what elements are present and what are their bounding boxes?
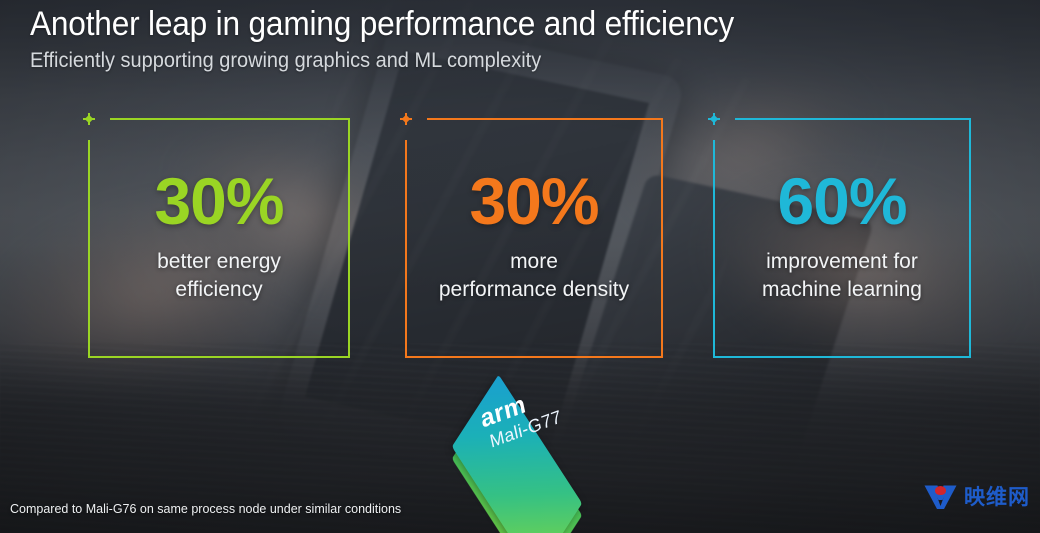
stat-value: 30% (469, 164, 598, 238)
watermark-text: 映维网 (964, 484, 1030, 510)
page-title: Another leap in gaming performance and e… (30, 2, 734, 46)
stat-label: improvement for machine learning (754, 248, 930, 304)
chip-graphic: arm Mali-G77 (432, 388, 632, 488)
stat-label-line-2: machine learning (762, 276, 922, 304)
page-subtitle: Efficiently supporting growing graphics … (30, 46, 749, 76)
watermark-logo-accent (935, 486, 946, 495)
watermark: 映维网 (924, 484, 1030, 510)
stat-card-better-energy-efficiency: 30% better energy efficiency (88, 118, 350, 358)
stat-label-line-2: efficiency (157, 276, 281, 304)
watermark-logo-icon (924, 484, 957, 510)
stat-label-line-2: performance density (439, 276, 629, 304)
stat-label-line-1: improvement for (762, 248, 922, 276)
stat-value: 60% (777, 164, 906, 238)
stat-card-more-performance-density: 30% more performance density (405, 118, 663, 358)
stat-value: 30% (154, 164, 283, 238)
stat-label: more performance density (431, 248, 637, 304)
stat-label-line-1: more (439, 248, 629, 276)
stat-label-line-1: better energy (157, 248, 281, 276)
header: Another leap in gaming performance and e… (30, 2, 787, 76)
slide-canvas: Another leap in gaming performance and e… (0, 0, 1040, 533)
stat-label: better energy efficiency (149, 248, 289, 304)
footnote: Compared to Mali-G76 on same process nod… (10, 502, 401, 516)
stat-card-improvement-for-machine-learning: 60% improvement for machine learning (713, 118, 971, 358)
